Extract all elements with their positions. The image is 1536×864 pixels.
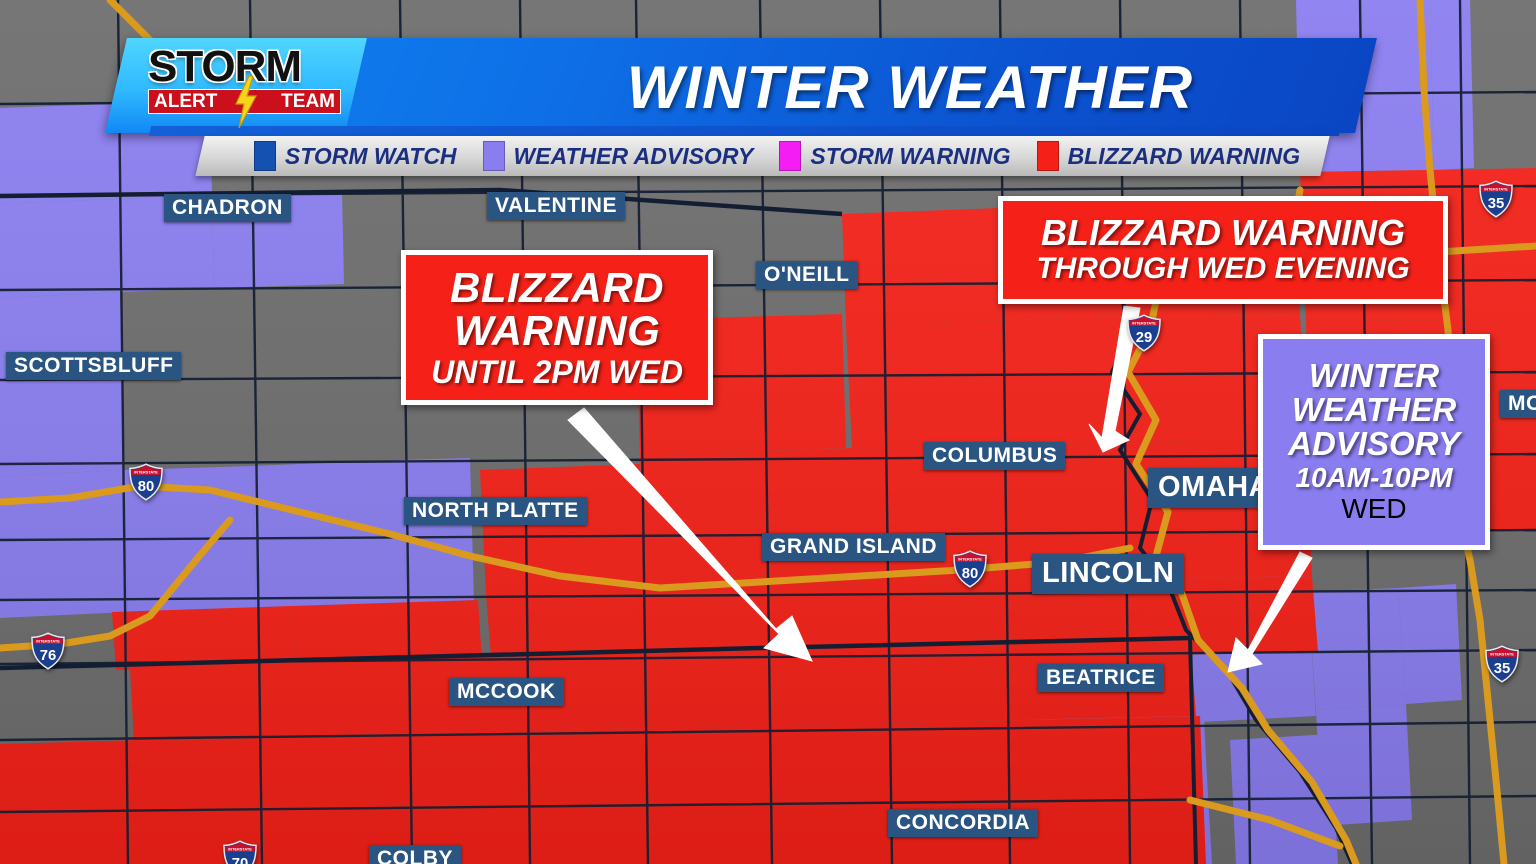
callout-line-2: THROUGH WED EVENING xyxy=(1036,254,1409,285)
callout-line-1: BLIZZARD xyxy=(450,267,664,310)
city-label-mo: MO xyxy=(1500,390,1536,418)
city-label-colby: COLBY xyxy=(369,845,461,864)
city-label-valentine: VALENTINE xyxy=(487,192,625,220)
legend-swatch-storm-warning xyxy=(779,141,801,171)
city-label-chadron: CHADRON xyxy=(164,194,291,222)
legend-label-weather-advisory: WEATHER ADVISORY xyxy=(514,143,754,170)
weather-map-graphic: CHADRON VALENTINE O'NEILL SCOTTSBLUFF CO… xyxy=(0,0,1536,864)
callout-line-3: UNTIL 2PM WED xyxy=(431,356,683,389)
svg-text:INTERSTATE: INTERSTATE xyxy=(1484,188,1508,192)
svg-text:35: 35 xyxy=(1494,661,1511,677)
svg-text:INTERSTATE: INTERSTATE xyxy=(1132,322,1156,326)
svg-text:INTERSTATE: INTERSTATE xyxy=(958,558,982,562)
city-label-mccook: MCCOOK xyxy=(449,678,564,706)
city-label-lincoln: LINCOLN xyxy=(1032,554,1184,594)
svg-text:35: 35 xyxy=(1488,196,1505,212)
interstate-shield-80-west: INTERSTATE80 xyxy=(128,463,164,501)
svg-text:29: 29 xyxy=(1136,330,1153,346)
svg-text:INTERSTATE: INTERSTATE xyxy=(1490,653,1514,657)
legend-item-storm-warning[interactable]: STORM WARNING xyxy=(779,141,1010,171)
callout-line-3: ADVISORY xyxy=(1288,427,1460,461)
city-label-oneill: O'NEILL xyxy=(756,261,858,289)
page-title: WINTER WEATHER xyxy=(560,48,1260,126)
city-label-grand-island: GRAND ISLAND xyxy=(762,533,945,561)
interstate-shield-80-east: INTERSTATE80 xyxy=(952,550,988,588)
city-label-scottsbluff: SCOTTSBLUFF xyxy=(6,352,181,380)
logo-team-word: TEAM xyxy=(281,91,335,113)
interstate-shield-35-north: INTERSTATE35 xyxy=(1478,180,1514,218)
callout-winter-weather-advisory: WINTER WEATHER ADVISORY 10AM-10PM WED xyxy=(1258,334,1490,550)
city-label-columbus: COLUMBUS xyxy=(924,442,1065,470)
interstate-shield-29: INTERSTATE29 xyxy=(1126,314,1162,352)
legend-label-storm-warning: STORM WARNING xyxy=(810,143,1010,170)
callout-line-5: WED xyxy=(1341,493,1406,525)
legend-label-storm-watch: STORM WATCH xyxy=(285,143,457,170)
legend-item-blizzard-warning[interactable]: BLIZZARD WARNING xyxy=(1037,141,1301,171)
svg-text:INTERSTATE: INTERSTATE xyxy=(228,848,252,852)
lightning-bolt-icon xyxy=(233,76,259,128)
logo-alert-word: ALERT xyxy=(154,91,217,113)
svg-text:76: 76 xyxy=(40,648,57,664)
legend-swatch-blizzard-warning xyxy=(1037,141,1059,171)
interstate-shield-35-south: INTERSTATE35 xyxy=(1484,645,1520,683)
callout-line-1: WINTER xyxy=(1309,359,1439,393)
callout-blizzard-warning-until: BLIZZARD WARNING UNTIL 2PM WED xyxy=(401,250,713,405)
svg-text:80: 80 xyxy=(962,566,979,582)
callout-line-2: WEATHER xyxy=(1292,393,1456,427)
legend-item-weather-advisory[interactable]: WEATHER ADVISORY xyxy=(483,141,754,171)
storm-alert-team-logo: STORM ALERT TEAM xyxy=(148,46,343,124)
city-label-north-platte: NORTH PLATTE xyxy=(404,497,587,525)
callout-line-1: BLIZZARD WARNING xyxy=(1041,215,1405,252)
callout-line-4: 10AM-10PM xyxy=(1295,464,1452,493)
legend-swatch-storm-watch xyxy=(254,141,276,171)
svg-text:INTERSTATE: INTERSTATE xyxy=(134,471,158,475)
legend: STORM WATCH WEATHER ADVISORY STORM WARNI… xyxy=(232,136,1322,176)
city-label-beatrice: BEATRICE xyxy=(1038,664,1164,692)
callout-line-2: WARNING xyxy=(454,310,661,353)
legend-swatch-weather-advisory xyxy=(483,141,505,171)
svg-text:70: 70 xyxy=(232,856,249,864)
interstate-shield-76: INTERSTATE76 xyxy=(30,632,66,670)
logo-alert-team-bar: ALERT TEAM xyxy=(148,89,341,114)
svg-text:80: 80 xyxy=(138,479,155,495)
interstate-shield-70: INTERSTATE70 xyxy=(222,840,258,864)
legend-item-storm-watch[interactable]: STORM WATCH xyxy=(254,141,457,171)
svg-text:INTERSTATE: INTERSTATE xyxy=(36,640,60,644)
city-label-concordia: CONCORDIA xyxy=(888,809,1038,837)
legend-label-blizzard-warning: BLIZZARD WARNING xyxy=(1068,143,1301,170)
callout-blizzard-warning-through: BLIZZARD WARNING THROUGH WED EVENING xyxy=(998,196,1448,304)
